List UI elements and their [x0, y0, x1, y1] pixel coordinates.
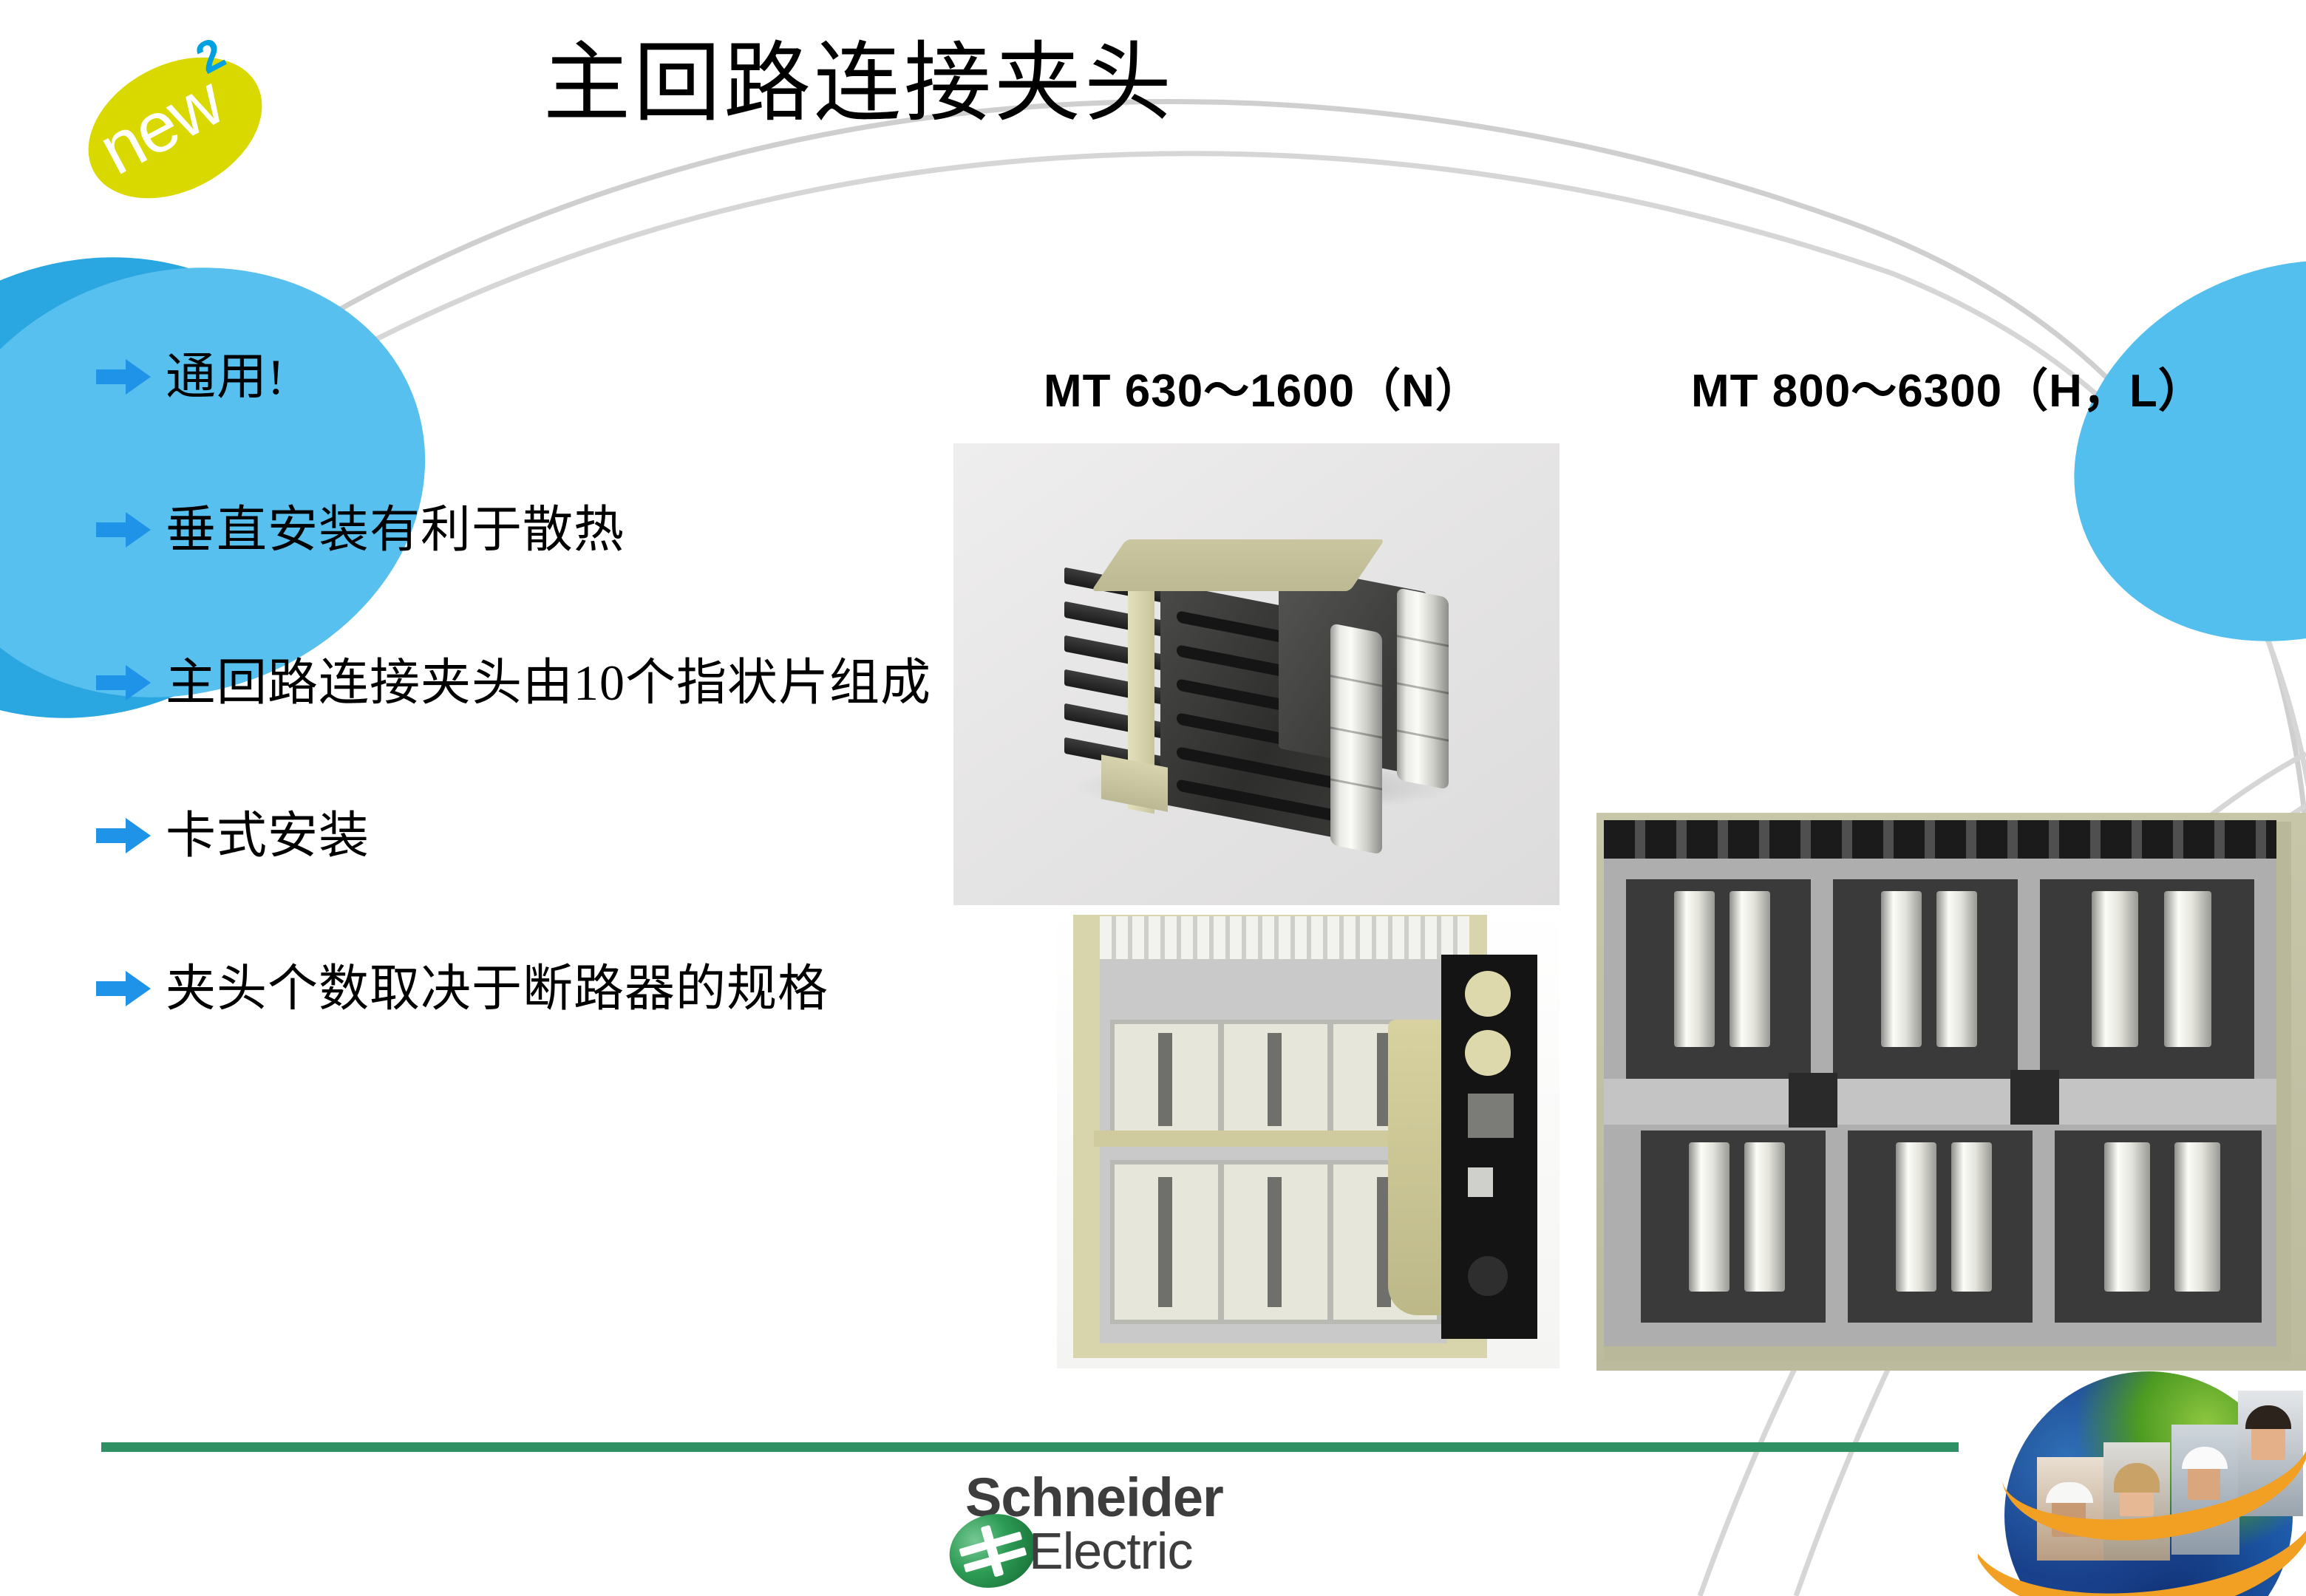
page-title: 主回路连接夹头 — [543, 35, 1174, 133]
column-header-left: MT 630～1600（N） — [1044, 353, 1482, 420]
arrow-right-icon — [95, 662, 166, 703]
list-item: 夹头个数取决于断路器的规格 — [95, 948, 1004, 1029]
list-item: 主回路连接夹头由10个指状片组成 — [95, 642, 1004, 723]
list-item: 通用! — [95, 336, 1004, 417]
arrow-right-icon — [95, 815, 166, 856]
arrow-right-icon — [95, 968, 166, 1009]
clamp-3d-render-image — [953, 443, 1560, 905]
list-item: 卡式安装 — [95, 795, 1004, 876]
schneider-electric-logo: Schneider Electric — [946, 1470, 1256, 1581]
electric-wordmark: Electric — [1029, 1525, 1192, 1577]
breaker-front-photo-image — [1057, 909, 1560, 1368]
people-globe-montage — [1978, 1368, 2306, 1596]
list-item-label: 垂直安装有利于散热 — [166, 505, 625, 555]
list-item-label: 夹头个数取决于断路器的规格 — [166, 964, 829, 1014]
footer-divider — [101, 1442, 1959, 1452]
arrow-right-icon — [95, 509, 166, 550]
column-header-right: MT 800～6300（H，L） — [1691, 353, 2205, 420]
clamp-assembly-photo-image — [1596, 813, 2306, 1371]
list-item-label: 通用! — [166, 352, 285, 402]
bullet-list: 通用! 垂直安装有利于散热 主回路连接夹头由10个指状片组成 — [95, 336, 1004, 1101]
list-item: 垂直安装有利于散热 — [95, 489, 1004, 570]
list-item-label: 卡式安装 — [166, 811, 370, 861]
list-item-label: 主回路连接夹头由10个指状片组成 — [166, 658, 931, 708]
arrow-right-icon — [95, 356, 166, 398]
slide-canvas: new 2 主回路连接夹头 通用! 垂直安装有利于散热 — [0, 0, 2306, 1596]
